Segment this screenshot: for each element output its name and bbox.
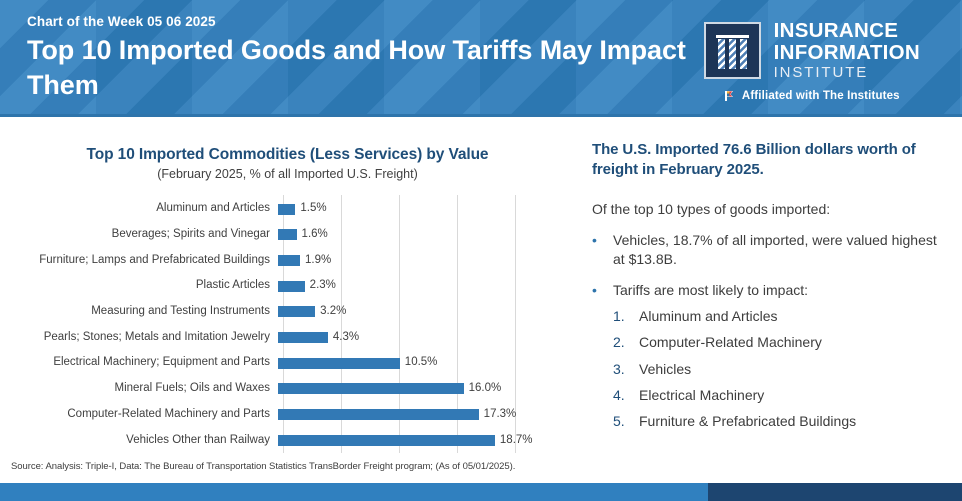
pillar-3 [740,39,747,69]
chart-bar-row: Plastic Articles2.3% [0,273,575,299]
bar [278,255,300,266]
bar-track: 1.9% [278,247,575,273]
chart-bar-row: Electrical Machinery; Equipment and Part… [0,350,575,376]
bar-track: 10.5% [278,350,575,376]
triple-i-pillars-icon [704,22,761,79]
bar [278,383,464,394]
ranked-list-number: 5. [592,412,639,430]
chart-bar-row: Vehicles Other than Railway18.7% [0,427,575,453]
bar-category-label: Beverages; Spirits and Vinegar [0,229,278,241]
footer-bar-dark [708,483,962,501]
ranked-list-number: 3. [592,360,639,378]
brand-logo: INSURANCE INFORMATION INSTITUTE Affiliat… [704,20,920,102]
bar [278,306,315,317]
page-footer [0,483,962,501]
bar-track: 18.7% [278,427,575,453]
page-header: Chart of the Week 05 06 2025 Top 10 Impo… [0,0,962,117]
chart-bar-row: Aluminum and Articles1.5% [0,196,575,222]
bar [278,204,295,215]
bar-category-label: Electrical Machinery; Equipment and Part… [0,357,278,369]
ranked-list-label: Aluminum and Articles [639,307,944,325]
affiliate-badge: Affiliated with The Institutes [724,90,900,102]
chart-bar-row: Measuring and Testing Instruments3.2% [0,299,575,325]
ranked-list-item: 2.Computer-Related Machinery [592,333,944,351]
logo-line-2: INFORMATION [774,42,920,64]
ranked-list-item: 1.Aluminum and Articles [592,307,944,325]
bar-category-label: Pearls; Stones; Metals and Imitation Jew… [0,332,278,344]
bar-track: 3.2% [278,299,575,325]
ranked-list-item: 3.Vehicles [592,360,944,378]
header-kicker: Chart of the Week 05 06 2025 [27,14,216,29]
bar-track: 4.3% [278,325,575,351]
summary-headline: The U.S. Imported 76.6 Billion dollars w… [592,140,944,181]
bar-track: 2.3% [278,273,575,299]
chart-panel: Top 10 Imported Commodities (Less Servic… [0,117,575,457]
pillar-1 [718,39,725,69]
bar [278,281,305,292]
ranked-list-item: 4.Electrical Machinery [592,386,944,404]
bar-value-label: 18.7% [500,435,533,447]
bullet-text-1: Tariffs are most likely to impact: [613,281,944,300]
bar-category-label: Measuring and Testing Instruments [0,306,278,318]
bar-category-label: Mineral Fuels; Oils and Waxes [0,383,278,395]
chart-bar-row: Mineral Fuels; Oils and Waxes16.0% [0,376,575,402]
summary-intro: Of the top 10 types of goods imported: [592,200,944,218]
bar [278,229,297,240]
bar-value-label: 17.3% [484,409,517,421]
source-note: Source: Analysis: Triple-I, Data: The Bu… [11,461,515,472]
bar [278,409,479,420]
logo-wordmark: INSURANCE INFORMATION INSTITUTE [774,20,920,81]
summary-panel: The U.S. Imported 76.6 Billion dollars w… [592,140,944,430]
chart-bar-row: Beverages; Spirits and Vinegar1.6% [0,222,575,248]
chart-bar-row: Pearls; Stones; Metals and Imitation Jew… [0,325,575,351]
page-title: Top 10 Imported Goods and How Tariffs Ma… [27,33,687,103]
chart-subtitle: (February 2025, % of all Imported U.S. F… [0,167,575,181]
logo-row: INSURANCE INFORMATION INSTITUTE [704,20,920,81]
ranked-list-number: 1. [592,307,639,325]
bar-category-label: Plastic Articles [0,280,278,292]
bullet-marker-icon: • [592,231,613,269]
pillars-glyph [718,39,747,69]
bar-category-label: Furniture; Lamps and Prefabricated Build… [0,255,278,267]
bar-track: 16.0% [278,376,575,402]
bullet-marker-icon: • [592,281,613,300]
ranked-list-item: 5.Furniture & Prefabricated Buildings [592,412,944,430]
pillar-2 [729,39,736,69]
bar [278,332,328,343]
bar-category-label: Aluminum and Articles [0,203,278,215]
chart-bars: Aluminum and Articles1.5%Beverages; Spir… [0,195,575,453]
bar [278,435,495,446]
affiliate-label: Affiliated with The Institutes [742,90,900,102]
bar-track: 1.6% [278,222,575,248]
bullet-text-0: Vehicles, 18.7% of all imported, were va… [613,231,944,269]
bar-track: 1.5% [278,196,575,222]
bar-value-label: 1.9% [305,255,331,267]
bar-category-label: Computer-Related Machinery and Parts [0,409,278,421]
bar-value-label: 16.0% [469,383,502,395]
ranked-list-label: Vehicles [639,360,944,378]
summary-bullet-1: • Tariffs are most likely to impact: [592,281,944,300]
ranked-list-label: Electrical Machinery [639,386,944,404]
logo-line-3: INSTITUTE [774,65,920,81]
bar-category-label: Vehicles Other than Railway [0,435,278,447]
chart-bar-row: Computer-Related Machinery and Parts17.3… [0,402,575,428]
summary-bullet-0: • Vehicles, 18.7% of all imported, were … [592,231,944,269]
ranked-list-label: Computer-Related Machinery [639,333,944,351]
chart-title: Top 10 Imported Commodities (Less Servic… [0,146,575,164]
bar-track: 17.3% [278,402,575,428]
bar-value-label: 3.2% [320,306,346,318]
bar [278,358,400,369]
chart-bar-row: Furniture; Lamps and Prefabricated Build… [0,247,575,273]
ranked-list-label: Furniture & Prefabricated Buildings [639,412,944,430]
ranked-list-number: 4. [592,386,639,404]
impact-ranked-list: 1.Aluminum and Articles2.Computer-Relate… [592,307,944,430]
bar-value-label: 4.3% [333,332,359,344]
bar-value-label: 10.5% [405,357,438,369]
ranked-list-number: 2. [592,333,639,351]
institutes-flag-icon [724,90,736,102]
bar-value-label: 1.6% [302,229,328,241]
bar-value-label: 1.5% [300,203,326,215]
footer-bar-light [0,483,708,501]
chart-plot-area: Aluminum and Articles1.5%Beverages; Spir… [0,195,575,453]
bar-value-label: 2.3% [310,280,336,292]
logo-line-1: INSURANCE [774,20,920,42]
